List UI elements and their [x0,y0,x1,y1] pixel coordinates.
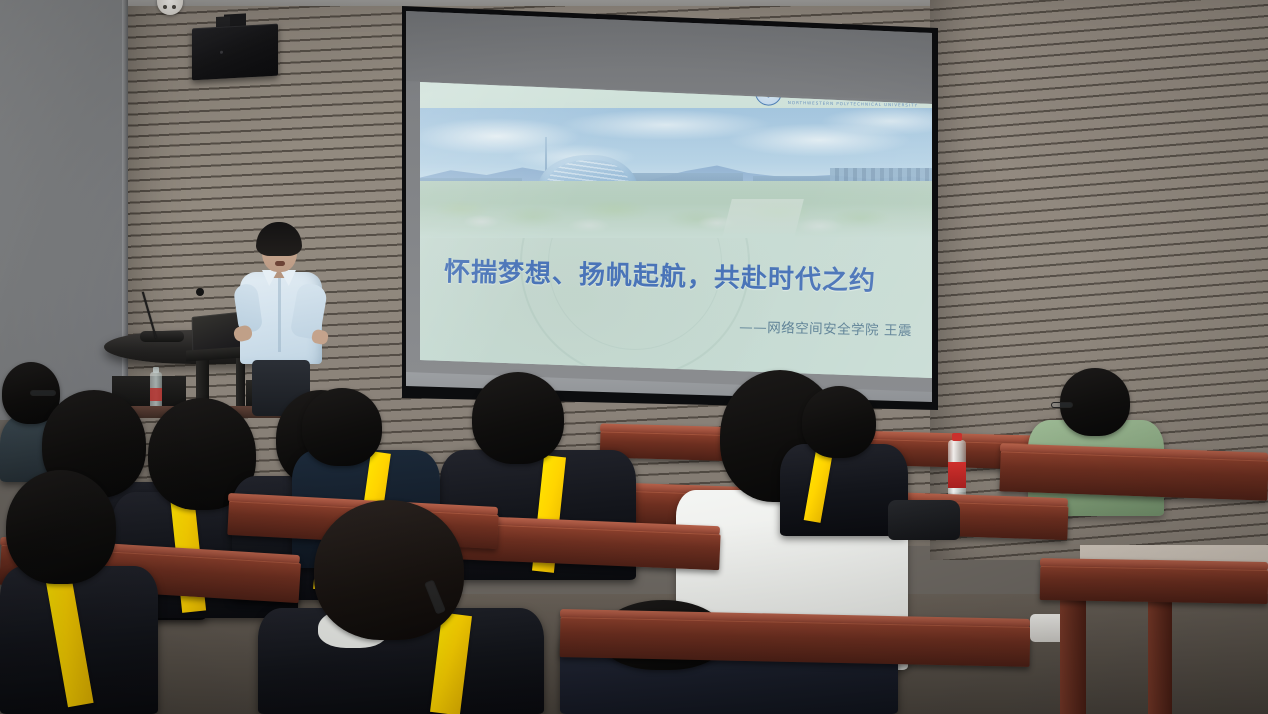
eyeglasses-icon [1051,402,1073,408]
attendee-foreground-left [0,470,160,714]
bottle-label [948,462,966,488]
bottle-cap [952,433,962,441]
presenter-mouth [275,261,285,266]
attendee-head [6,470,116,584]
left-side-wall [0,0,128,420]
attendee-head [472,372,564,464]
wall-speaker [192,24,278,81]
desk-water-bottle [948,440,966,502]
projected-slide: 西北工业大学 NORTHWESTERN POLYTECHNICAL UNIVER… [420,68,932,378]
lecture-hall-photo: 西北工业大学 NORTHWESTERN POLYTECHNICAL UNIVER… [0,0,1268,714]
campus-panorama-photo [420,108,932,238]
attendee-foreground-center [258,500,548,714]
presenter [236,222,322,414]
projection-screen: 西北工业大学 NORTHWESTERN POLYTECHNICAL UNIVER… [398,6,938,410]
bench-leg-a [1060,600,1086,714]
bench-leg-b [1148,590,1172,714]
backpack [888,500,960,540]
bench-row-far-right-body [1040,566,1268,604]
attendee-head [314,500,464,640]
photo-fade-overlay [420,108,932,238]
attendee-head [302,388,382,466]
attendee-head [802,386,876,458]
microphone-base [140,331,184,342]
presenter-hair [256,222,302,256]
microphone-head-icon [196,288,204,296]
